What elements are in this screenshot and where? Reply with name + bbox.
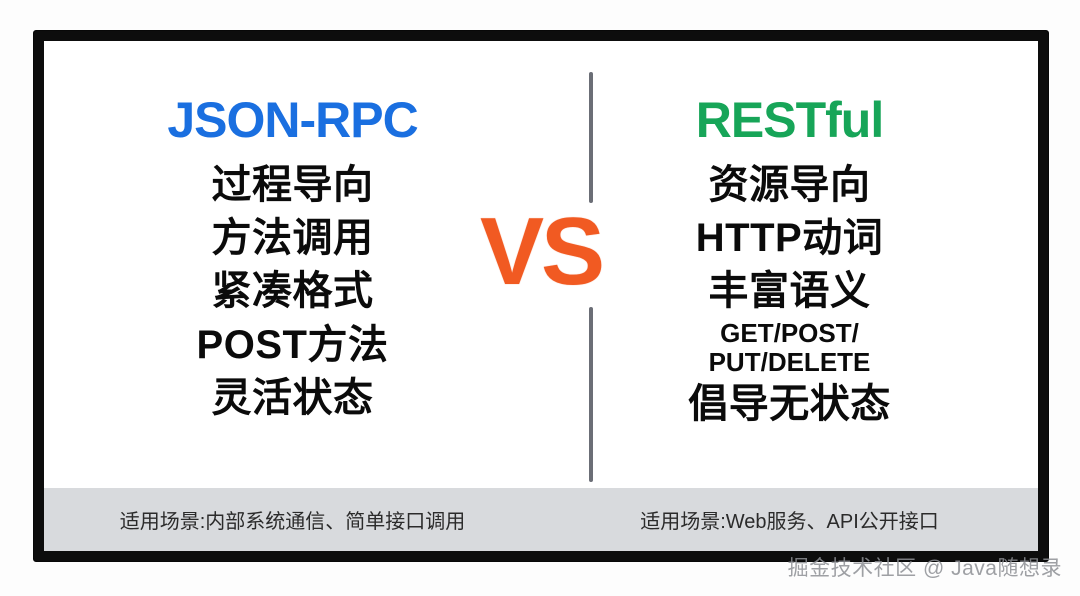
column-json-rpc: JSON-RPC 过程导向 方法调用 紧凑格式 POST方法 灵活状态 xyxy=(44,41,541,496)
versus-badge: VS xyxy=(480,204,602,300)
center-divider-bottom xyxy=(589,307,593,482)
list-item: 紧凑格式 xyxy=(212,270,374,313)
poster-frame: JSON-RPC 过程导向 方法调用 紧凑格式 POST方法 灵活状态 REST… xyxy=(33,30,1049,562)
footer-band: 适用场景:内部系统通信、简单接口调用 适用场景:Web服务、API公开接口 xyxy=(44,488,1038,551)
list-item: 丰富语义 xyxy=(709,270,871,313)
list-subitem: GET/POST/ xyxy=(720,319,859,349)
column-restful: RESTful 资源导向 HTTP动词 丰富语义 GET/POST/ PUT/D… xyxy=(541,41,1038,496)
column-heading-restful: RESTful xyxy=(696,95,883,145)
footer-usecase-json-rpc: 适用场景:内部系统通信、简单接口调用 xyxy=(44,505,541,534)
list-item: HTTP动词 xyxy=(696,217,883,260)
list-subitem: PUT/DELETE xyxy=(709,348,871,378)
list-item: 方法调用 xyxy=(212,217,374,260)
list-item: 资源导向 xyxy=(709,164,871,207)
center-divider-top xyxy=(589,72,593,203)
footer-usecase-restful: 适用场景:Web服务、API公开接口 xyxy=(541,505,1038,534)
list-item: POST方法 xyxy=(197,324,389,367)
poster-canvas: JSON-RPC 过程导向 方法调用 紧凑格式 POST方法 灵活状态 REST… xyxy=(0,0,1080,596)
list-item: 过程导向 xyxy=(212,164,374,207)
list-item: 灵活状态 xyxy=(212,377,374,420)
column-heading-json-rpc: JSON-RPC xyxy=(167,95,417,145)
watermark: 掘金技术社区 @ Java随想录 xyxy=(788,552,1062,582)
list-item: 倡导无状态 xyxy=(688,383,891,426)
